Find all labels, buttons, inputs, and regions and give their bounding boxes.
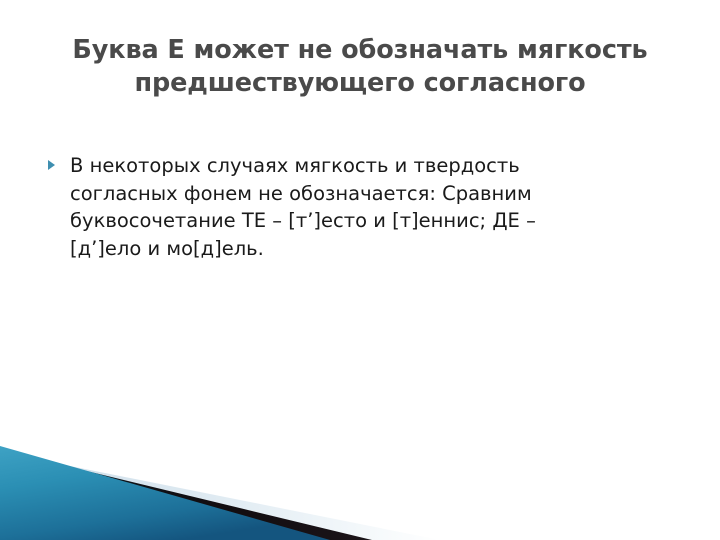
body-line-2: согласных фонем не обозначается: Сравним xyxy=(70,180,682,208)
title-line-2: предшествующего согласного xyxy=(36,67,684,100)
slide-canvas: Буква Е может не обозначать мягкость пре… xyxy=(0,0,720,540)
slide-body: В некоторых случаях мягкость и твердость… xyxy=(42,152,682,262)
body-line-3: буквосочетание ТЕ – [т’]есто и [т]еннис;… xyxy=(70,207,682,235)
body-line-4: [д’]ело и мо[д]ель. xyxy=(70,235,682,263)
bullet-triangle-icon xyxy=(48,160,55,170)
bullet-text: В некоторых случаях мягкость и твердость… xyxy=(70,152,682,262)
slide-title: Буква Е может не обозначать мягкость пре… xyxy=(36,34,684,100)
decoration-teal-triangle xyxy=(0,446,330,540)
title-line-1: Буква Е может не обозначать мягкость xyxy=(36,34,684,67)
decoration-dark-stripe xyxy=(0,450,372,540)
list-item: В некоторых случаях мягкость и твердость… xyxy=(42,152,682,262)
corner-decoration-graphic xyxy=(0,430,720,540)
body-line-1: В некоторых случаях мягкость и твердость xyxy=(70,152,682,180)
decoration-light-band xyxy=(0,452,440,540)
